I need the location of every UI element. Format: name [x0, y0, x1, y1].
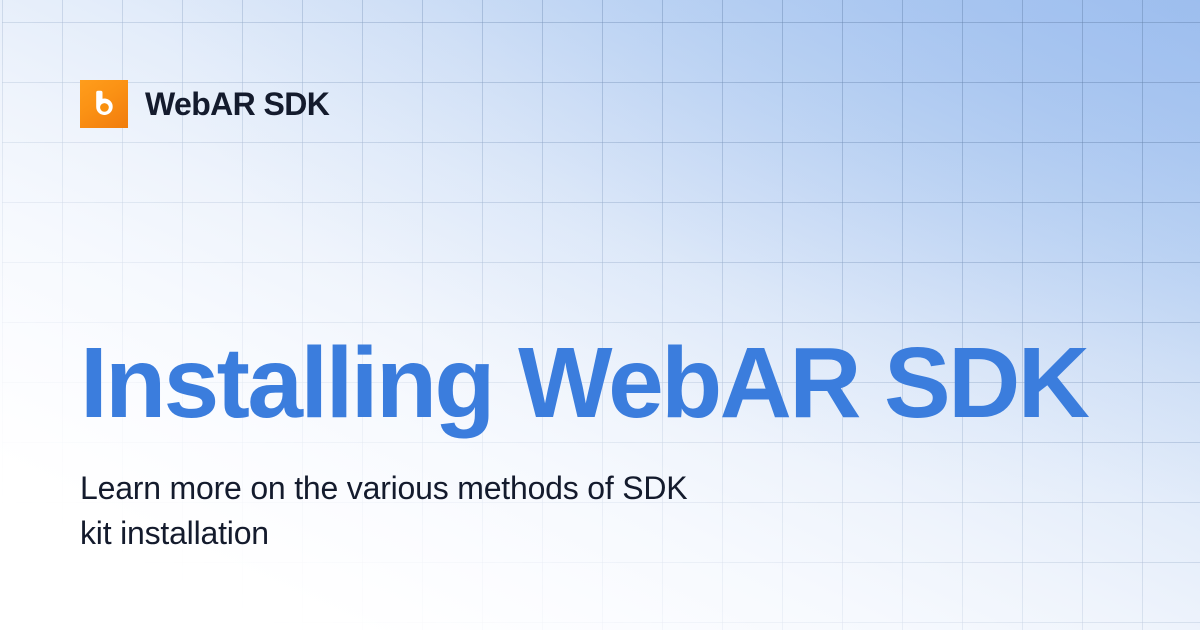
webar-b-logo-icon — [80, 80, 128, 128]
page-title: Installing WebAR SDK — [80, 333, 1087, 433]
brand-name: WebAR SDK — [145, 88, 329, 120]
og-card: WebAR SDK Installing WebAR SDK Learn mor… — [0, 0, 1200, 630]
page-subtitle-line-2: kit installation — [80, 511, 880, 556]
card-content: WebAR SDK Installing WebAR SDK Learn mor… — [0, 0, 1200, 630]
page-subtitle-line-1: Learn more on the various methods of SDK — [80, 466, 880, 511]
brand-lockup[interactable]: WebAR SDK — [80, 80, 329, 128]
page-subtitle: Learn more on the various methods of SDK… — [80, 466, 880, 557]
